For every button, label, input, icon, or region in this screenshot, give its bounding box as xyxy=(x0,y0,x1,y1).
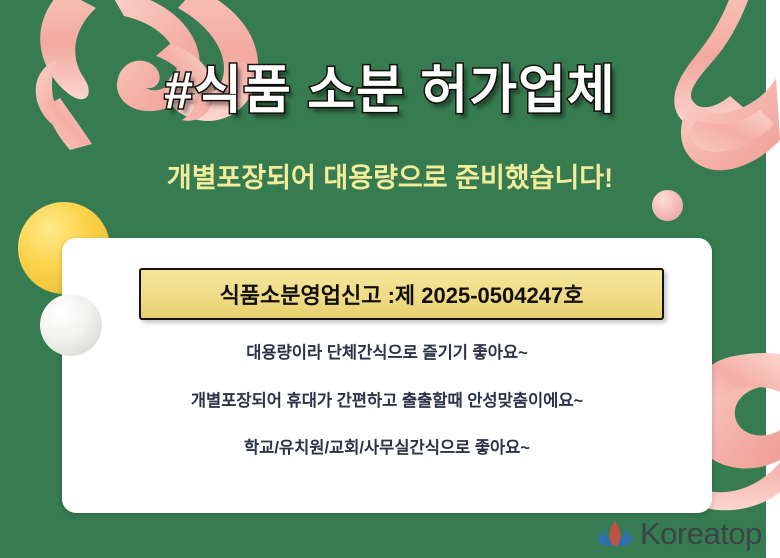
page-title: #식품 소분 허가업체 xyxy=(0,48,780,123)
brand-logo: Koreatop xyxy=(596,518,762,549)
list-item: 개별포장되어 휴대가 간편하고 출출할때 안성맞춤이에요~ xyxy=(62,393,712,410)
license-badge: 식품소분영업신고 :제 2025-0504247호 xyxy=(139,268,664,320)
feature-bullet-list: 대용량이라 단체간식으로 즐기기 좋아요~ 개별포장되어 휴대가 간편하고 출출… xyxy=(62,345,712,457)
promo-poster: #식품 소분 허가업체 개별포장되어 대용량으로 준비했습니다! 식품소분영업신… xyxy=(0,0,780,558)
page-subtitle: 개별포장되어 대용량으로 준비했습니다! xyxy=(0,156,780,195)
list-item: 대용량이라 단체간식으로 즐기기 좋아요~ xyxy=(62,345,712,362)
list-item: 학교/유치원/교회/사무실간식으로 좋아요~ xyxy=(62,440,712,457)
brand-name-label: Koreatop xyxy=(640,518,762,549)
license-badge-label: 식품소분영업신고 :제 2025-0504247호 xyxy=(220,278,584,310)
lotus-flower-icon xyxy=(596,519,634,549)
